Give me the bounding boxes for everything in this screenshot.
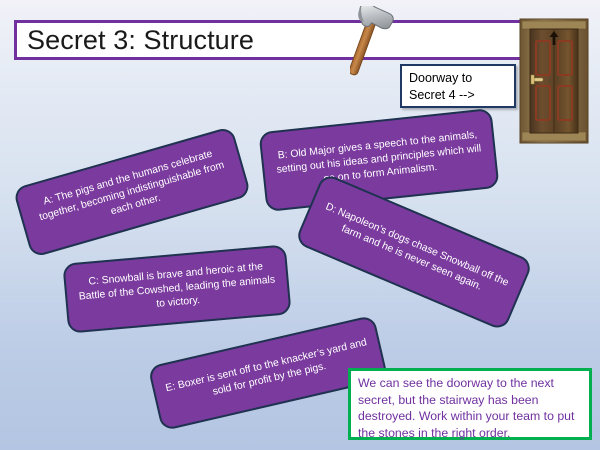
statement-card-e-text: E: Boxer is sent off to the knacker’s ya… bbox=[164, 336, 373, 410]
slide-canvas: Secret 3: Structure bbox=[0, 0, 600, 450]
slide-title-box: Secret 3: Structure bbox=[14, 20, 526, 60]
statement-card-c[interactable]: C: Snowball is brave and heroic at the B… bbox=[62, 244, 291, 333]
statement-card-c-text: C: Snowball is brave and heroic at the B… bbox=[76, 259, 279, 318]
doorway-callout-line2: Secret 4 --> bbox=[409, 87, 514, 104]
statement-card-a[interactable]: A: The pigs and the humans celebrate tog… bbox=[12, 126, 251, 258]
instruction-text: We can see the doorway to the next secre… bbox=[358, 376, 574, 440]
statement-card-d-text: D: Napoleon’s dogs chase Snowball off th… bbox=[315, 199, 514, 304]
page-title: Secret 3: Structure bbox=[17, 25, 254, 56]
doorway-callout-line1: Doorway to bbox=[409, 70, 514, 87]
statement-card-a-text: A: The pigs and the humans celebrate tog… bbox=[28, 144, 236, 241]
instruction-box: We can see the doorway to the next secre… bbox=[348, 368, 592, 440]
wooden-door-icon[interactable] bbox=[519, 18, 589, 144]
statement-card-b-text: B: Old Major gives a speech to the anima… bbox=[272, 128, 485, 192]
doorway-callout: Doorway to Secret 4 --> bbox=[400, 64, 516, 108]
